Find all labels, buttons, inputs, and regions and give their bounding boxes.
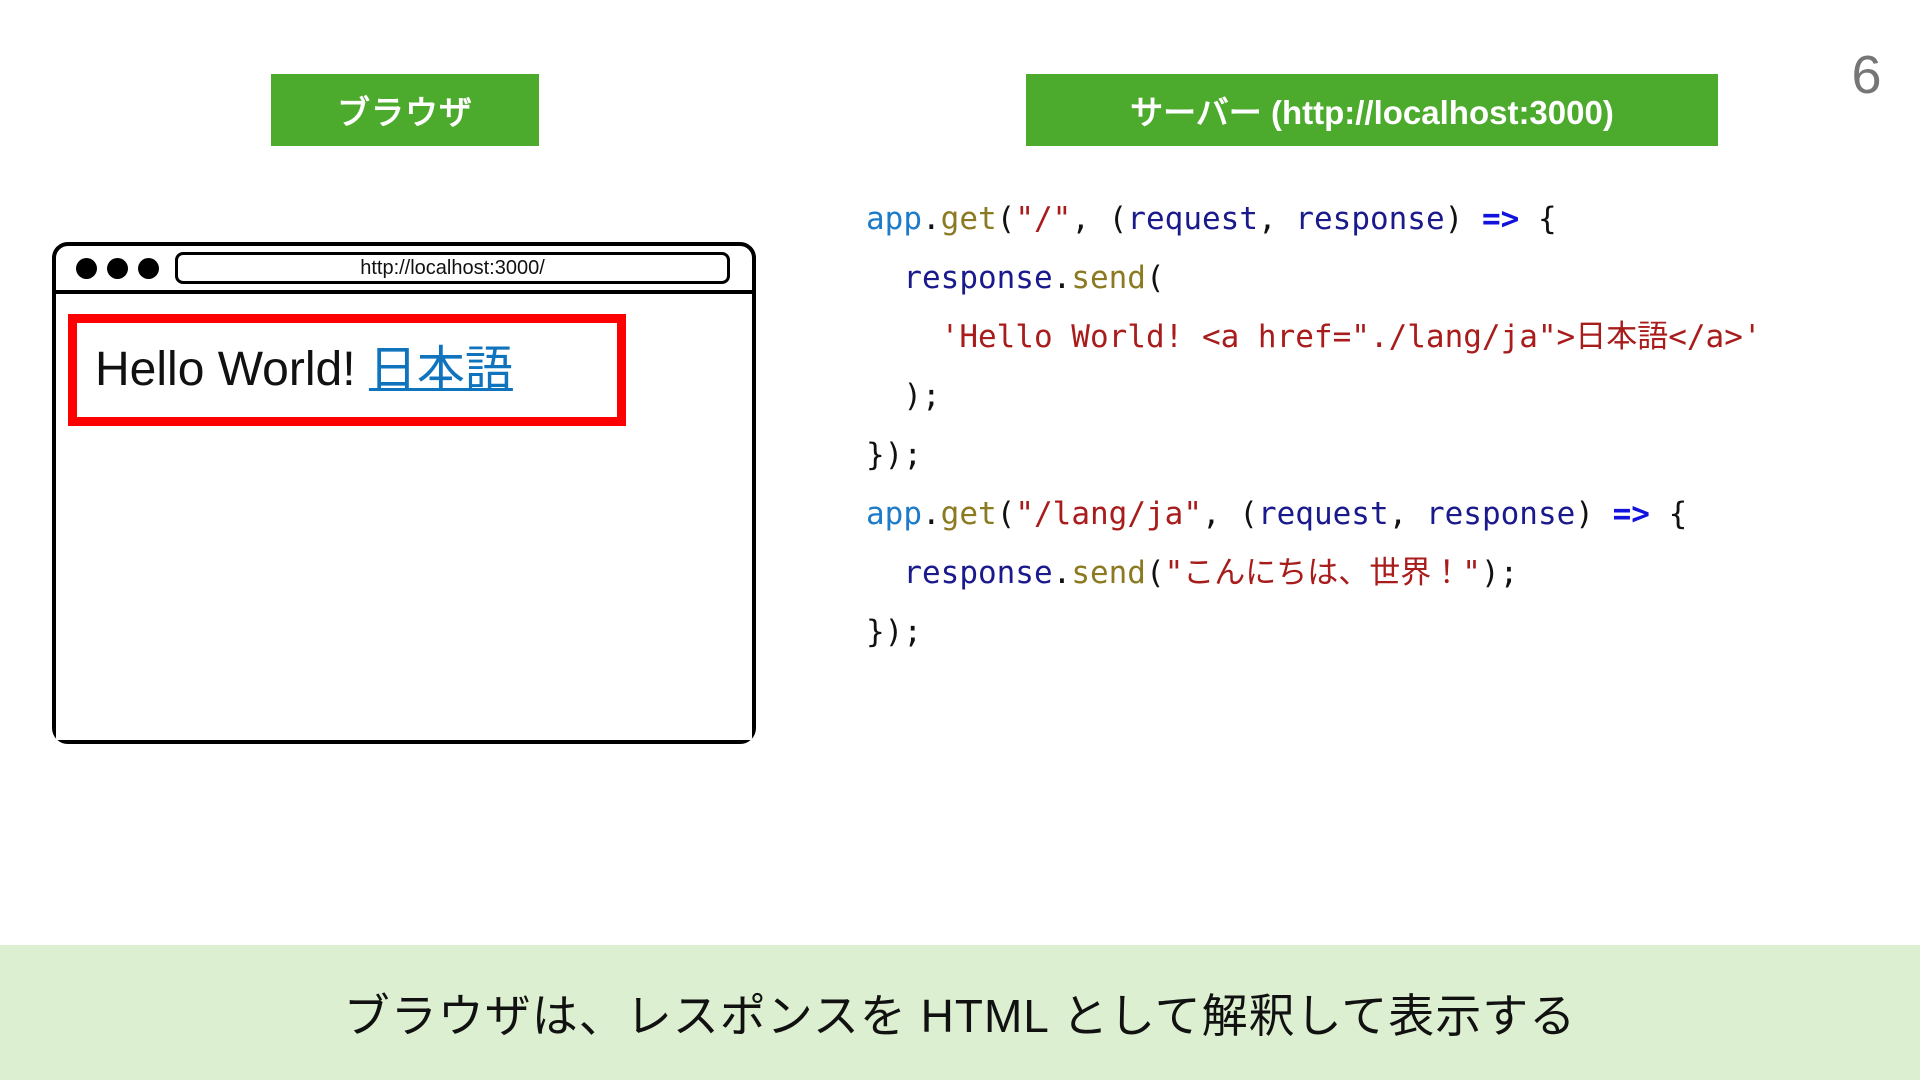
page-number: 6: [1851, 48, 1882, 102]
code-token: "/lang/ja": [1015, 496, 1202, 532]
code-token: ): [1575, 496, 1612, 532]
code-token: .: [1053, 260, 1072, 296]
code-token: send: [1071, 555, 1146, 591]
code-token: =>: [1613, 496, 1650, 532]
code-line: 'Hello World! <a href="./lang/ja">日本語</a…: [866, 308, 1886, 367]
code-line: response.send(: [866, 249, 1886, 308]
code-token: 'Hello World! <a href="./lang/ja">日本語</a…: [941, 319, 1762, 355]
caption-band: ブラウザは、レスポンスを HTML として解釈して表示する: [0, 945, 1920, 1080]
code-token: .: [1053, 555, 1072, 591]
code-token: app: [866, 496, 922, 532]
code-line: });: [866, 426, 1886, 485]
code-token: response: [903, 260, 1052, 296]
code-token: .: [922, 496, 941, 532]
minimize-dot-icon[interactable]: [107, 258, 128, 279]
code-token: response: [1426, 496, 1575, 532]
badge-server-label: サーバー (http://localhost:3000): [1130, 86, 1614, 134]
code-token: });: [866, 614, 922, 650]
code-line: });: [866, 603, 1886, 662]
address-bar[interactable]: http://localhost:3000/: [175, 252, 730, 284]
slide-root: 6 ブラウザ サーバー (http://localhost:3000) http…: [0, 0, 1920, 1080]
code-token: );: [1481, 555, 1518, 591]
code-token: [866, 555, 903, 591]
rendered-output-highlight: Hello World! 日本語: [68, 314, 626, 426]
browser-window-mockup: http://localhost:3000/ Hello World! 日本語: [52, 242, 756, 744]
badge-browser: ブラウザ: [271, 74, 539, 146]
code-token: , (: [1071, 201, 1127, 237]
code-token: request: [1127, 201, 1258, 237]
address-bar-url: http://localhost:3000/: [360, 258, 545, 278]
code-token: get: [941, 496, 997, 532]
code-line: app.get("/", (request, response) => {: [866, 190, 1886, 249]
code-token: });: [866, 437, 922, 473]
rendered-link[interactable]: 日本語: [369, 343, 513, 396]
window-controls: [76, 258, 159, 279]
code-token: ,: [1389, 496, 1426, 532]
code-token: (: [997, 201, 1016, 237]
browser-chrome: http://localhost:3000/: [56, 246, 752, 294]
code-token: .: [922, 201, 941, 237]
code-line: response.send("こんにちは、世界！");: [866, 544, 1886, 603]
code-token: =>: [1482, 201, 1519, 237]
code-token: ,: [1258, 201, 1295, 237]
code-token: response: [1295, 201, 1444, 237]
browser-viewport: Hello World! 日本語: [56, 294, 752, 740]
code-token: [866, 260, 903, 296]
code-token: app: [866, 201, 922, 237]
code-token: [866, 319, 941, 355]
code-token: response: [903, 555, 1052, 591]
code-token: request: [1258, 496, 1389, 532]
code-token: (: [1146, 555, 1165, 591]
maximize-dot-icon[interactable]: [138, 258, 159, 279]
server-code-block: app.get("/", (request, response) => { re…: [866, 190, 1886, 662]
rendered-output-text: Hello World! 日本語: [95, 345, 513, 395]
close-dot-icon[interactable]: [76, 258, 97, 279]
rendered-plain-text: Hello World!: [95, 343, 369, 396]
caption-text: ブラウザは、レスポンスを HTML として解釈して表示する: [344, 980, 1576, 1046]
badge-server: サーバー (http://localhost:3000): [1026, 74, 1718, 146]
code-token: (: [997, 496, 1016, 532]
badge-browser-label: ブラウザ: [337, 86, 473, 134]
code-token: ): [1445, 201, 1482, 237]
code-token: (: [1146, 260, 1165, 296]
code-token: {: [1650, 496, 1687, 532]
code-token: get: [941, 201, 997, 237]
code-line: );: [866, 367, 1886, 426]
code-token: "こんにちは、世界！": [1165, 555, 1481, 591]
code-token: , (: [1202, 496, 1258, 532]
code-line: app.get("/lang/ja", (request, response) …: [866, 485, 1886, 544]
code-token: {: [1519, 201, 1556, 237]
code-token: );: [866, 378, 941, 414]
code-token: "/": [1015, 201, 1071, 237]
code-token: send: [1071, 260, 1146, 296]
